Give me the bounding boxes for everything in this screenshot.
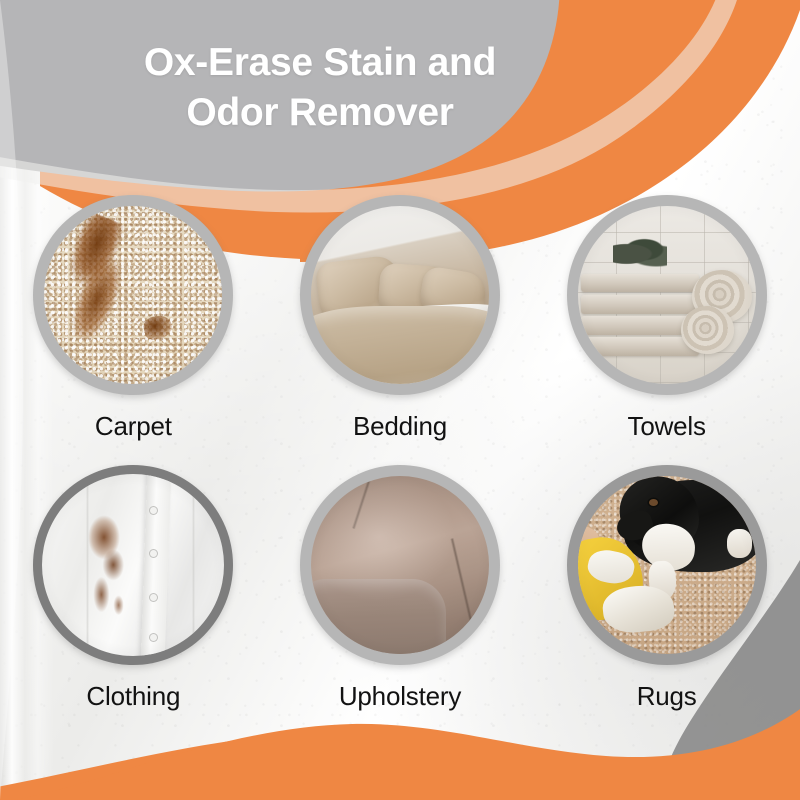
carpet-with-brown-stain-photo (44, 206, 222, 384)
category-item-rugs[interactable]: Rugs (533, 465, 800, 735)
carpet-circle-frame (33, 195, 233, 395)
shirt-button (150, 594, 157, 601)
rolled-towel-lower (681, 306, 734, 354)
title-line-1: Ox-Erase Stain and (0, 38, 640, 88)
shirt-button (150, 634, 157, 641)
dog-rear-paw (727, 529, 752, 557)
category-label-towels: Towels (628, 413, 706, 439)
stacked-and-rolled-towels-photo (578, 206, 756, 384)
decor-plant (613, 238, 666, 266)
bed-with-beige-pillows-and-duvet-photo (311, 206, 489, 384)
product-infographic-poster: Ox-Erase Stain and Odor Remover Carpet (0, 0, 800, 800)
shirt-placket (141, 474, 172, 656)
shirt-fold (192, 474, 195, 656)
sofa-shading (311, 476, 489, 654)
towels-circle-frame (567, 195, 767, 395)
folded-towel-stack (581, 274, 698, 352)
poster-title: Ox-Erase Stain and Odor Remover (0, 38, 640, 138)
category-label-clothing: Clothing (86, 683, 180, 709)
category-label-upholstery: Upholstery (339, 683, 461, 709)
bed-duvet (311, 306, 489, 384)
category-label-carpet: Carpet (95, 413, 172, 439)
category-item-towels[interactable]: Towels (533, 195, 800, 465)
category-label-bedding: Bedding (353, 413, 447, 439)
beige-sofa-cushion-photo (311, 476, 489, 654)
category-label-rugs: Rugs (637, 683, 697, 709)
category-item-bedding[interactable]: Bedding (267, 195, 534, 465)
clothing-circle-frame (33, 465, 233, 665)
title-line-2: Odor Remover (0, 88, 640, 138)
shirt-button (150, 507, 157, 514)
dog-on-rug-being-cleaned-photo (578, 476, 756, 654)
dog-eye (649, 499, 658, 506)
white-shirt-with-stain-photo (42, 474, 224, 656)
photo-vignette (44, 206, 222, 384)
folded-towel (581, 274, 698, 293)
bedding-circle-frame (300, 195, 500, 395)
category-grid: Carpet Bedding (0, 195, 800, 735)
category-item-upholstery[interactable]: Upholstery (267, 465, 534, 735)
rugs-circle-frame (567, 465, 767, 665)
category-item-carpet[interactable]: Carpet (0, 195, 267, 465)
category-item-clothing[interactable]: Clothing (0, 465, 267, 735)
upholstery-circle-frame (300, 465, 500, 665)
coffee-stain (75, 514, 141, 620)
folded-towel (581, 295, 698, 314)
folded-towel (581, 337, 698, 356)
